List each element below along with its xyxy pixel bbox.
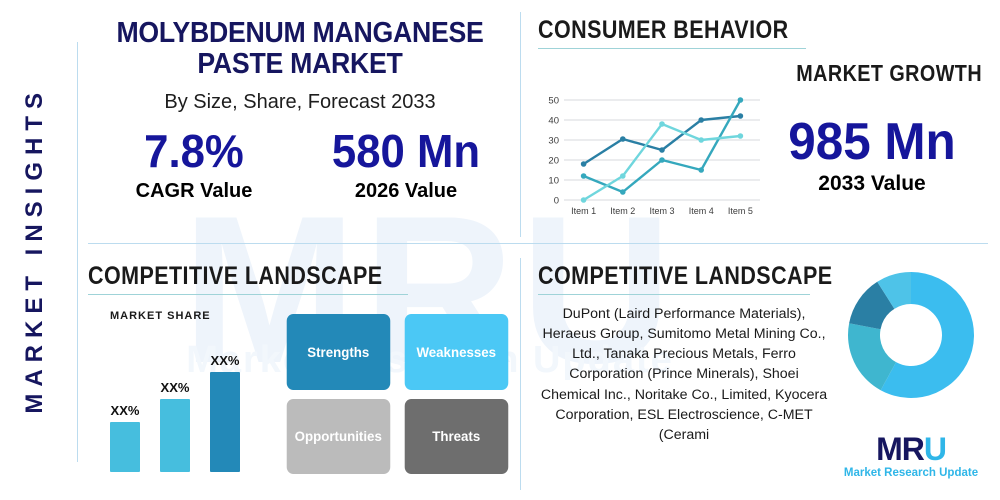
heading-underline xyxy=(88,294,408,295)
y-tick-label: 50 xyxy=(548,96,559,107)
kpi-cagr: 7.8% CAGR Value xyxy=(88,128,300,203)
kpi-2033-label: 2033 Value xyxy=(762,172,982,196)
kpi-2026-label: 2026 Value xyxy=(300,180,512,203)
line-chart-svg: 01020304050Item 1Item 2Item 3Item 4Item … xyxy=(538,94,766,222)
swot-box-weaknesses[interactable]: Weaknesses xyxy=(404,314,507,390)
series-point xyxy=(620,173,626,179)
x-tick-label: Item 5 xyxy=(728,206,753,216)
kpi-cagr-label: CAGR Value xyxy=(88,180,300,203)
consumer-behavior-heading: CONSUMER BEHAVIOR xyxy=(538,16,768,45)
series-point xyxy=(620,136,626,142)
heading-underline xyxy=(538,48,806,49)
competitive-charts-section: COMPETITIVE LANDSCAPE MARKET SHARE XX%XX… xyxy=(88,262,512,490)
series-point xyxy=(738,113,744,119)
horizontal-divider xyxy=(88,243,988,244)
swot-box-strengths[interactable]: Strengths xyxy=(287,314,390,390)
infographic-canvas: MRU Market Research Update MARKET INSIGH… xyxy=(0,0,1000,500)
kpi-2026: 580 Mn 2026 Value xyxy=(300,128,512,203)
competitive-text-heading-wrap: COMPETITIVE LANDSCAPE xyxy=(538,262,810,295)
series-point xyxy=(698,117,704,123)
donut-chart xyxy=(844,268,978,402)
mru-logo: MRU Market Research Update xyxy=(836,433,986,479)
bar-item: XX% xyxy=(210,353,240,472)
side-divider xyxy=(77,42,78,462)
vertical-divider-top xyxy=(520,12,521,237)
page-title: MOLYBDENUM MANGANESE PASTE MARKET xyxy=(105,18,495,79)
consumer-behavior-heading-wrap: CONSUMER BEHAVIOR xyxy=(538,16,806,49)
swot-box-threats[interactable]: Threats xyxy=(404,399,507,475)
series-point xyxy=(738,133,744,139)
series-point xyxy=(581,173,587,179)
series-point xyxy=(581,161,587,167)
bar-value-label: XX% xyxy=(160,380,190,395)
consumer-behavior-section: CONSUMER BEHAVIOR MARKET GROWTH 01020304… xyxy=(538,16,988,238)
x-tick-label: Item 2 xyxy=(610,206,635,216)
kpi-row: 7.8% CAGR Value 580 Mn 2026 Value xyxy=(88,128,512,203)
bar-item: XX% xyxy=(110,403,140,472)
competitive-charts-heading-wrap: COMPETITIVE LANDSCAPE xyxy=(88,262,408,295)
kpi-2026-value: 580 Mn xyxy=(305,128,506,174)
swot-grid: StrengthsWeaknessesOpportunitiesThreats xyxy=(284,314,510,474)
market-share-bar-chart: XX%XX%XX% xyxy=(104,324,272,472)
competitive-charts-heading: COMPETITIVE LANDSCAPE xyxy=(88,262,363,291)
kpi-2033-value: 985 Mn xyxy=(768,116,977,168)
logo-mark: MRU xyxy=(836,433,986,465)
company-list: DuPont (Laird Performance Materials), He… xyxy=(538,304,830,445)
series-point xyxy=(659,157,665,163)
series-line xyxy=(584,100,741,192)
title-block: MOLYBDENUM MANGANESE PASTE MARKET By Siz… xyxy=(88,12,512,238)
series-point xyxy=(659,121,665,127)
kpi-cagr-value: 7.8% xyxy=(93,128,294,174)
y-tick-label: 40 xyxy=(548,116,559,127)
bar-rect xyxy=(210,372,240,472)
series-point xyxy=(698,167,704,173)
bar-value-label: XX% xyxy=(210,353,240,368)
logo-mark-accent: U xyxy=(924,431,946,467)
y-tick-label: 30 xyxy=(548,136,559,147)
x-tick-label: Item 4 xyxy=(689,206,714,216)
series-point xyxy=(581,197,587,203)
competitive-text-section: COMPETITIVE LANDSCAPE DuPont (Laird Perf… xyxy=(538,262,990,490)
series-point xyxy=(738,97,744,103)
bar-item: XX% xyxy=(160,380,190,472)
y-tick-label: 0 xyxy=(554,196,559,207)
series-point xyxy=(620,189,626,195)
x-tick-label: Item 3 xyxy=(649,206,674,216)
bar-value-label: XX% xyxy=(110,403,140,418)
kpi-2033: 985 Mn 2033 Value xyxy=(762,116,982,196)
competitive-text-heading: COMPETITIVE LANDSCAPE xyxy=(538,262,772,291)
donut-and-logo: MRU Market Research Update xyxy=(836,268,986,483)
swot-box-opportunities[interactable]: Opportunities xyxy=(287,399,390,475)
series-point xyxy=(659,147,665,153)
y-tick-label: 10 xyxy=(548,176,559,187)
market-growth-heading: MARKET GROWTH xyxy=(796,60,982,87)
heading-underline xyxy=(538,294,810,295)
page-subtitle: By Size, Share, Forecast 2033 xyxy=(88,91,512,114)
x-tick-label: Item 1 xyxy=(571,206,596,216)
logo-tagline: Market Research Update xyxy=(836,467,986,479)
side-label: MARKET INSIGHTS xyxy=(0,0,72,500)
vertical-divider-bottom xyxy=(520,258,521,490)
y-tick-label: 20 xyxy=(548,156,559,167)
logo-mark-dark: MR xyxy=(876,431,924,467)
market-share-title: MARKET SHARE xyxy=(110,310,211,322)
bar-rect xyxy=(110,422,140,472)
bar-rect xyxy=(160,399,190,472)
series-point xyxy=(698,137,704,143)
side-label-text: MARKET INSIGHTS xyxy=(21,86,49,414)
line-chart: 01020304050Item 1Item 2Item 3Item 4Item … xyxy=(538,94,766,222)
